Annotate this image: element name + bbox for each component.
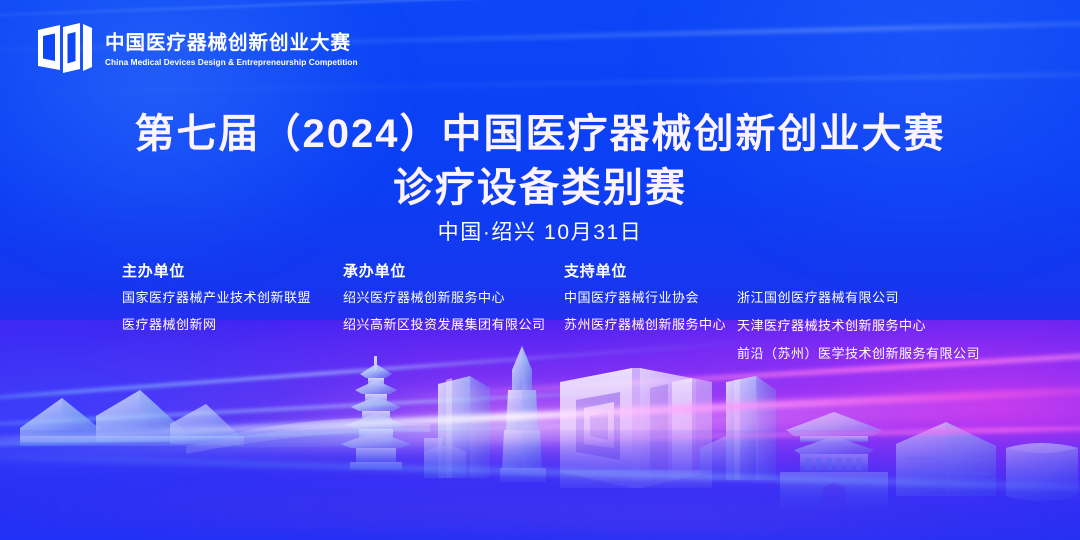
- ground-haze: [0, 430, 1080, 540]
- page-title: 第七届（2024）中国医疗器械创新创业大赛: [0, 108, 1080, 160]
- organizer-item: 浙江国创医疗器械有限公司: [737, 291, 980, 304]
- organizer-column-support: 支持单位 中国医疗器械行业协会 苏州医疗器械创新服务中心: [564, 264, 726, 345]
- organizer-item: 天津医疗器械技术创新服务中心: [737, 319, 980, 332]
- event-location-date: 中国·绍兴 10月31日: [0, 216, 1080, 246]
- open-book-window-logo-icon: [36, 20, 94, 77]
- organizers-block: 主办单位 国家医疗器械产业技术创新联盟 医疗器械创新网 承办单位 绍兴医疗器械创…: [0, 264, 1080, 364]
- organizer-item: 前沿（苏州）医学技术创新服务有限公司: [737, 347, 980, 360]
- organizer-item: 苏州医疗器械创新服务中心: [564, 318, 726, 331]
- organizer-item: 医疗器械创新网: [122, 318, 311, 331]
- organizer-heading: 承办单位: [343, 264, 546, 279]
- organizer-item: 绍兴高新区投资发展集团有限公司: [343, 318, 546, 331]
- page-subtitle-category: 诊疗设备类别赛: [0, 162, 1080, 214]
- organizer-item: 中国医疗器械行业协会: [564, 291, 726, 304]
- organizer-heading: 主办单位: [122, 264, 311, 279]
- hero-title-block: 第七届（2024）中国医疗器械创新创业大赛 诊疗设备类别赛: [0, 108, 1080, 214]
- brand-name-cn: 中国医疗器械创新创业大赛: [105, 33, 360, 55]
- organizer-item: 绍兴医疗器械创新服务中心: [343, 291, 546, 304]
- brand-text: 中国医疗器械创新创业大赛 China Medical Devices Desig…: [105, 33, 360, 68]
- organizer-column-host: 主办单位 国家医疗器械产业技术创新联盟 医疗器械创新网: [122, 264, 311, 345]
- organizer-item: 国家医疗器械产业技术创新联盟: [122, 291, 311, 304]
- organizer-heading: 支持单位: [564, 264, 726, 279]
- brand-name-en: China Medical Devices Design & Entrepren…: [105, 57, 358, 67]
- column-spacer: [737, 264, 980, 291]
- organizer-column-co-host: 承办单位 绍兴医疗器械创新服务中心 绍兴高新区投资发展集团有限公司: [343, 264, 546, 345]
- event-banner: 中国医疗器械创新创业大赛 China Medical Devices Desig…: [0, 0, 1080, 540]
- brand-logo[interactable]: 中国医疗器械创新创业大赛 China Medical Devices Desig…: [36, 20, 360, 77]
- organizer-column-support-extra: 浙江国创医疗器械有限公司 天津医疗器械技术创新服务中心 前沿（苏州）医学技术创新…: [737, 264, 980, 375]
